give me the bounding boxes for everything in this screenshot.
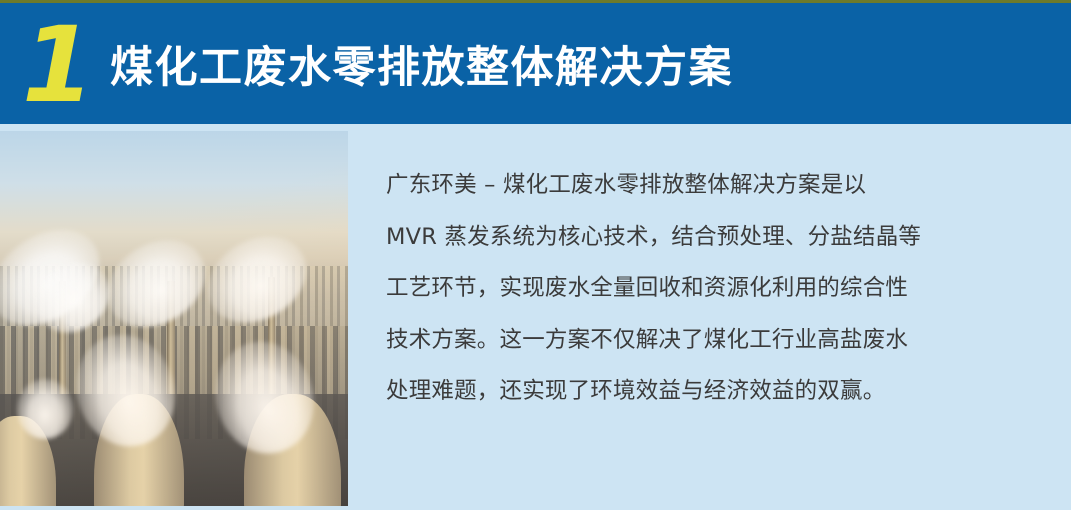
page-title: 煤化工废水零排放整体解决方案 xyxy=(110,43,733,93)
description-text: 广东环美 – 煤化工废水零排放整体解决方案是以 MVR 蒸发系统为核心技术，结合… xyxy=(386,160,1026,418)
section-number: 1 xyxy=(22,15,92,115)
industrial-plant-photo xyxy=(0,131,348,506)
header-band: 1 煤化工废水零排放整体解决方案 xyxy=(0,3,1071,124)
steam-plume xyxy=(17,379,73,439)
description-block: 广东环美 – 煤化工废水零排放整体解决方案是以 MVR 蒸发系统为核心技术，结合… xyxy=(386,160,1026,418)
slide-root: 1 煤化工废水零排放整体解决方案 广东环美 – 煤化工废水零排放整体解决方案是以… xyxy=(0,0,1071,510)
